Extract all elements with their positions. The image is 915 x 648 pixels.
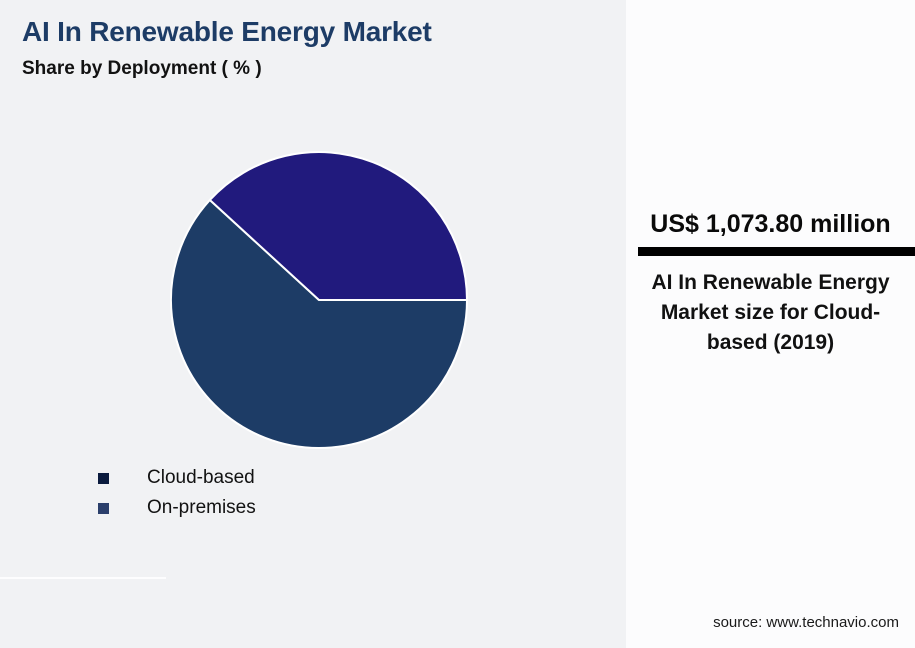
callout-panel: US$ 1,073.80 million AI In Renewable Ene…	[626, 0, 915, 648]
legend-item-label: Cloud-based	[147, 467, 255, 489]
chart-subtitle: Share by Deployment ( % )	[22, 58, 262, 80]
legend-item-cloud-based[interactable]: Cloud-based	[98, 463, 518, 493]
legend-item-on-premises[interactable]: On-premises	[98, 493, 518, 523]
callout-description: AI In Renewable Energy Market size for C…	[638, 268, 903, 358]
baseline-divider	[0, 577, 166, 579]
page-title: AI In Renewable Energy Market	[22, 16, 432, 48]
callout-divider	[638, 247, 915, 256]
pie-chart-svg	[170, 151, 468, 449]
infographic-root: AI In Renewable Energy Market Share by D…	[0, 0, 915, 648]
chart-legend: Cloud-based On-premises	[98, 463, 518, 523]
legend-swatch-icon	[98, 503, 109, 514]
pie-chart	[170, 151, 468, 449]
legend-item-label: On-premises	[147, 497, 256, 519]
source-note: source: www.technavio.com	[626, 614, 915, 631]
callout-value: US$ 1,073.80 million	[626, 210, 915, 239]
chart-panel: AI In Renewable Energy Market Share by D…	[0, 0, 626, 648]
legend-swatch-icon	[98, 473, 109, 484]
